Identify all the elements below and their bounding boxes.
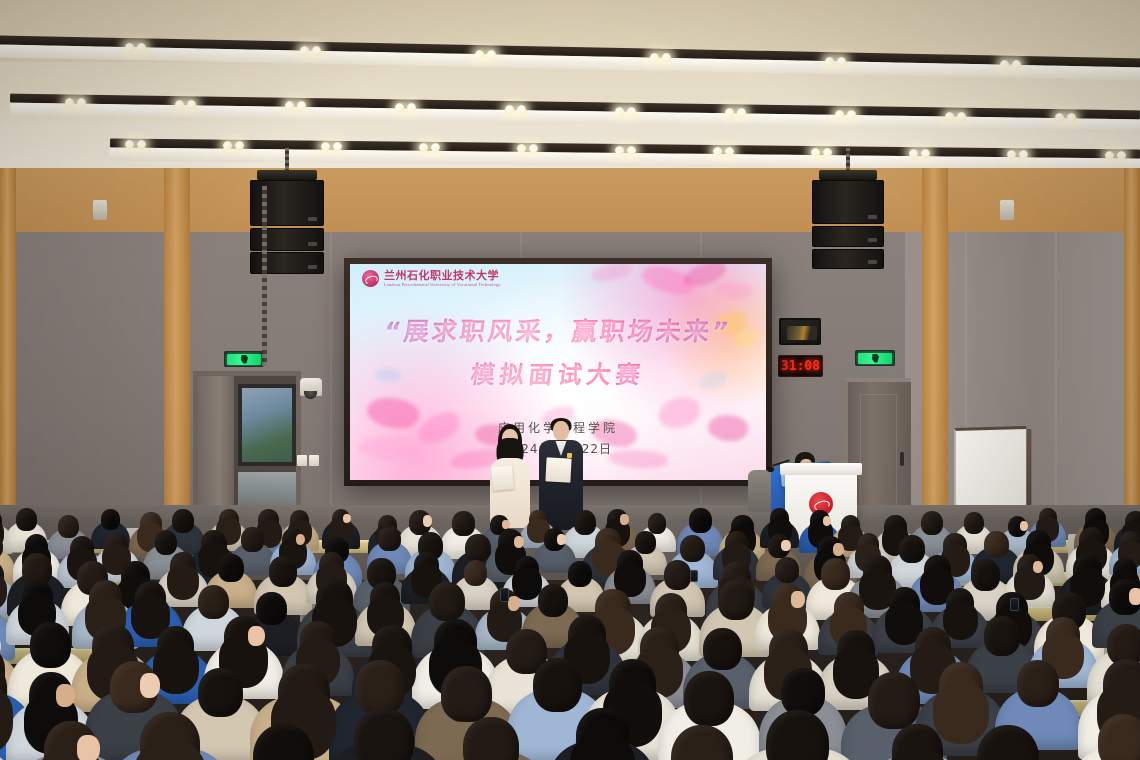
event-title-block: “展求职风采，赢职场未来” 模拟面试大赛 bbox=[350, 312, 766, 390]
ceiling-downlight-pair bbox=[505, 105, 527, 116]
event-title-main: “展求职风采，赢职场未来” bbox=[350, 312, 766, 348]
audience-member-head bbox=[58, 515, 79, 538]
audience-member-head bbox=[155, 530, 178, 555]
ceiling-downlight-pair bbox=[321, 142, 343, 153]
corridor-window bbox=[238, 384, 296, 466]
ceiling-downlight-pair bbox=[909, 149, 931, 160]
audience bbox=[0, 470, 1140, 760]
lapel-badge bbox=[567, 453, 572, 458]
switch[interactable] bbox=[309, 455, 319, 466]
ceiling-downlight-pair bbox=[517, 144, 539, 155]
ceiling-downlight-pair bbox=[419, 143, 441, 154]
screen-floral-decoration bbox=[715, 278, 754, 302]
audience-member-head bbox=[463, 717, 518, 760]
audience-member-head bbox=[354, 708, 414, 760]
audience-member-face bbox=[791, 591, 804, 608]
audience-member-face bbox=[823, 516, 831, 526]
audience-member-head bbox=[635, 531, 656, 554]
audience-member-head bbox=[355, 660, 405, 714]
audience-member-head bbox=[703, 628, 741, 670]
ceiling-downlight-pair bbox=[175, 100, 197, 111]
audience-member-head bbox=[781, 668, 824, 715]
clock-display: 31:08 bbox=[781, 360, 820, 373]
event-title-sub: 模拟面试大赛 bbox=[350, 355, 766, 390]
raised-phone bbox=[1010, 598, 1019, 611]
ceiling-downlight-pair bbox=[475, 50, 497, 61]
audience-member-long-hair bbox=[153, 644, 199, 694]
ceiling-downlight-pair bbox=[125, 140, 147, 151]
audience-member-head bbox=[984, 616, 1021, 656]
audience-member-head bbox=[429, 582, 465, 621]
audience-member-head bbox=[538, 584, 568, 617]
audience-member-head bbox=[689, 508, 712, 533]
ceiling-downlight-pair bbox=[615, 146, 637, 157]
ceiling-downlight-pair bbox=[1007, 150, 1029, 161]
hanging-chain bbox=[262, 186, 267, 366]
audience-member-head bbox=[172, 509, 194, 533]
audience-member-long-hair bbox=[933, 684, 988, 744]
audience-member-long-hair bbox=[167, 565, 199, 600]
exit-sign-left bbox=[224, 351, 264, 367]
audience-member-head bbox=[218, 554, 243, 582]
audience-member-head bbox=[821, 558, 850, 590]
audience-member-face bbox=[248, 626, 264, 646]
wall-mounted-monitor bbox=[779, 318, 821, 345]
university-logo: 兰州石化职业技术大学 Lanzhou Petrochemical Univers… bbox=[362, 270, 501, 287]
audience-member-head bbox=[441, 666, 492, 722]
ceiling-downlight-pair bbox=[825, 57, 847, 68]
speaker-box bbox=[812, 180, 884, 224]
audience-member-face bbox=[140, 673, 160, 698]
audience-member-head bbox=[101, 509, 120, 530]
audience-member-head bbox=[465, 534, 491, 563]
ceiling-downlight-pair bbox=[223, 141, 245, 152]
audience-member-face bbox=[781, 540, 790, 551]
wall-speaker-left bbox=[93, 200, 107, 220]
rigging-frame bbox=[819, 170, 877, 180]
ceiling-downlight-pair bbox=[945, 112, 967, 123]
audience-member-head bbox=[921, 511, 943, 535]
audience-member-head bbox=[464, 560, 488, 586]
ceiling-downlight-pair bbox=[125, 43, 147, 54]
ceiling-downlight-pair bbox=[615, 107, 637, 118]
audience-member-head bbox=[680, 535, 705, 563]
audience-member-head bbox=[718, 580, 754, 620]
ceiling-downlight-pair bbox=[650, 53, 672, 64]
line-array-speaker-right bbox=[812, 176, 884, 268]
ceiling-downlight-pair bbox=[835, 110, 857, 121]
audience-member-head bbox=[269, 556, 297, 587]
audience-member-face bbox=[1129, 588, 1140, 605]
ceiling-downlight-pair bbox=[725, 108, 747, 119]
exit-icon bbox=[858, 353, 892, 364]
ceiling-downlight-pair bbox=[713, 147, 735, 158]
audience-member-head bbox=[971, 559, 1000, 591]
ceiling-downlight-pair bbox=[395, 103, 417, 114]
led-clock: 31:08 bbox=[778, 355, 823, 377]
university-name-cn: 兰州石化职业技术大学 bbox=[384, 270, 501, 281]
raised-phone bbox=[690, 570, 698, 582]
head bbox=[553, 421, 569, 441]
university-name-en: Lanzhou Petrochemical University of Voca… bbox=[384, 283, 501, 287]
exit-icon bbox=[227, 354, 261, 365]
audience-member-head bbox=[664, 560, 691, 590]
ceiling-downlight-pair bbox=[1000, 60, 1022, 71]
audience-member-head bbox=[378, 527, 400, 551]
audience-member-head bbox=[574, 510, 597, 535]
university-logo-icon bbox=[362, 270, 379, 287]
audience-member-face bbox=[557, 534, 566, 545]
audience-member-head bbox=[648, 513, 666, 533]
audience-member-head bbox=[1017, 660, 1059, 707]
audience-member-head bbox=[984, 531, 1009, 558]
ceiling-downlight-pair bbox=[285, 101, 307, 112]
rigging-frame bbox=[257, 170, 316, 180]
lecture-hall-scene: 31:08 兰州石化职业技术大学 Lanzhou Petrochemical U… bbox=[0, 0, 1140, 760]
audience-member-head bbox=[198, 668, 243, 718]
audience-member-head bbox=[30, 622, 71, 667]
audience-member-head bbox=[452, 511, 474, 536]
audience-member-head bbox=[533, 658, 583, 713]
ceiling-downlight-pair bbox=[1055, 113, 1077, 124]
wall-speaker-right bbox=[1000, 200, 1014, 220]
ceiling-downlight-pair bbox=[811, 148, 833, 159]
audience-member-head bbox=[868, 672, 920, 729]
ceiling-downlight-pair bbox=[1105, 151, 1127, 162]
switch[interactable] bbox=[297, 455, 307, 466]
audience-member-face bbox=[502, 520, 510, 530]
audience-member-face bbox=[1020, 521, 1028, 531]
ceiling-downlight-pair bbox=[65, 98, 87, 109]
ceiling bbox=[0, 0, 1140, 175]
audience-member-head bbox=[241, 527, 264, 552]
audience-member-head bbox=[568, 561, 592, 587]
audience-member-head bbox=[899, 535, 924, 563]
speaker-box bbox=[812, 249, 884, 269]
audience-member-head bbox=[256, 592, 286, 625]
audience-member-face bbox=[620, 514, 629, 525]
audience-member-face bbox=[56, 684, 74, 707]
screen-floral-decoration bbox=[590, 264, 632, 283]
audience-member-head bbox=[198, 585, 229, 619]
audience-member-head bbox=[16, 508, 37, 531]
audience-member-head bbox=[964, 512, 984, 534]
security-camera-icon bbox=[300, 378, 322, 396]
audience-member-head bbox=[775, 557, 799, 584]
raised-phone bbox=[500, 588, 509, 602]
audience-member-face bbox=[77, 735, 100, 760]
speaker-box bbox=[812, 226, 884, 247]
light-switch-panel[interactable] bbox=[297, 455, 319, 466]
exit-sign-right bbox=[855, 350, 895, 366]
audience-member-head bbox=[684, 671, 734, 726]
ceiling-downlight-pair bbox=[300, 46, 322, 57]
